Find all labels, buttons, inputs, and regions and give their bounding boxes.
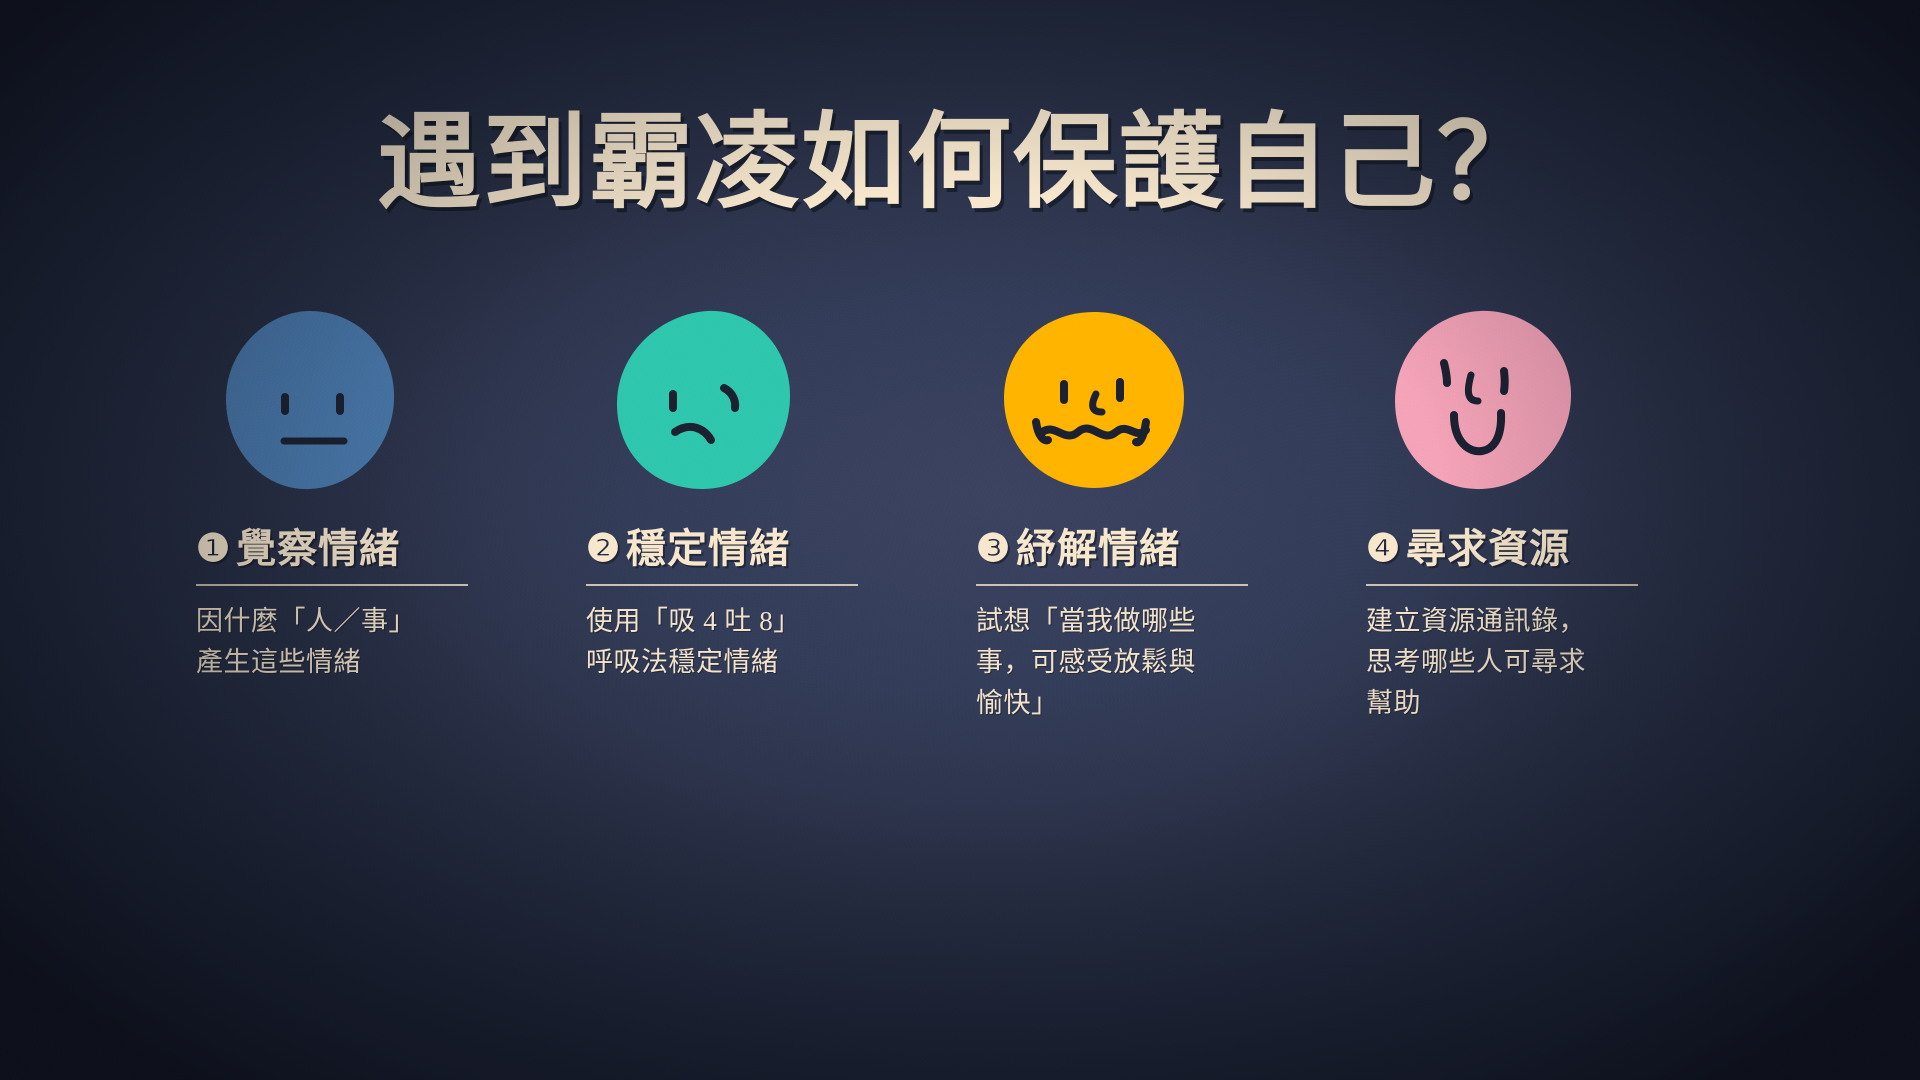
step-heading-1: ❶ 覺察情緒: [196, 526, 530, 572]
step-body-line: 呼吸法穩定情緒: [586, 642, 836, 683]
step-body-line: 使用「吸 4 吐 8」: [586, 601, 836, 642]
divider-4: [1366, 584, 1638, 586]
face-container-4: [1366, 300, 1700, 500]
step-heading-text-2: 穩定情緒: [626, 526, 790, 572]
step-card-3: ❸ 紓解情緒 試想「當我做哪些 事，可感受放鬆與 愉快」: [976, 300, 1366, 724]
step-body-line: 幫助: [1366, 683, 1624, 724]
step-body-line: 事，可感受放鬆與: [976, 642, 1234, 683]
anxious-face-icon: [1002, 310, 1186, 490]
step-body-line: 愉快」: [976, 683, 1234, 724]
worried-face-icon: [612, 308, 794, 492]
step-card-1: ❶ 覺察情緒 因什麼「人／事」 產生這些情緒: [196, 300, 586, 683]
step-number-3: ❸: [976, 530, 1011, 568]
step-heading-3: ❸ 紓解情緒: [976, 526, 1310, 572]
divider-3: [976, 584, 1248, 586]
step-body-4: 建立資源通訊錄， 思考哪些人可尋求 幫助: [1366, 601, 1624, 724]
step-number-2: ❷: [586, 530, 621, 568]
step-number-1: ❶: [196, 530, 231, 568]
divider-1: [196, 584, 468, 586]
step-heading-2: ❷ 穩定情緒: [586, 526, 920, 572]
face-container-3: [976, 300, 1310, 500]
face-container-1: [196, 300, 530, 500]
happy-face-icon: [1392, 309, 1574, 491]
step-body-1: 因什麼「人／事」 產生這些情緒: [196, 601, 446, 683]
step-body-line: 產生這些情緒: [196, 642, 446, 683]
neutral-face-icon: [222, 307, 398, 493]
step-heading-text-1: 覺察情緒: [236, 526, 400, 572]
steps-row: ❶ 覺察情緒 因什麼「人／事」 產生這些情緒 ❷ 穩定情緒: [196, 300, 1756, 724]
step-heading-text-4: 尋求資源: [1406, 526, 1570, 572]
step-body-line: 因什麼「人／事」: [196, 601, 446, 642]
step-card-4: ❹ 尋求資源 建立資源通訊錄， 思考哪些人可尋求 幫助: [1366, 300, 1756, 724]
infographic-poster: 遇到霸凌如何保護自己？ ❶ 覺察情緒 因什麼「人／事」 產生這些情緒: [0, 0, 1920, 1080]
page-title: 遇到霸凌如何保護自己？: [0, 108, 1920, 220]
step-body-line: 建立資源通訊錄，: [1366, 601, 1624, 642]
step-body-2: 使用「吸 4 吐 8」 呼吸法穩定情緒: [586, 601, 836, 683]
step-number-4: ❹: [1366, 530, 1401, 568]
step-body-3: 試想「當我做哪些 事，可感受放鬆與 愉快」: [976, 601, 1234, 724]
step-card-2: ❷ 穩定情緒 使用「吸 4 吐 8」 呼吸法穩定情緒: [586, 300, 976, 683]
step-body-line: 試想「當我做哪些: [976, 601, 1234, 642]
step-body-line: 思考哪些人可尋求: [1366, 642, 1624, 683]
divider-2: [586, 584, 858, 586]
step-heading-text-3: 紓解情緒: [1016, 526, 1180, 572]
step-heading-4: ❹ 尋求資源: [1366, 526, 1700, 572]
face-container-2: [586, 300, 920, 500]
